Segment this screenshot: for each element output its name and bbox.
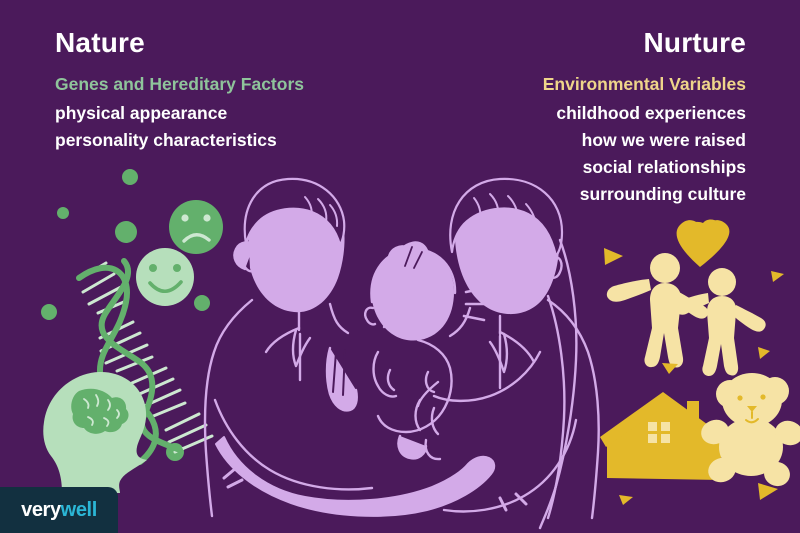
nature-item: personality characteristics [55,127,304,154]
nurture-heading: Nurture [543,28,746,57]
nurture-item: social relationships [543,154,746,181]
nature-subheading: Genes and Hereditary Factors [55,71,304,98]
nurture-text-column: Nurture Environmental Variables childhoo… [543,28,746,208]
nurture-item: surrounding culture [543,181,746,208]
logo-wordmark: verywell [21,499,97,522]
verywell-logo[interactable]: verywell [0,487,118,533]
logo-very-text: very [21,499,61,521]
nature-item: physical appearance [55,100,304,127]
nurture-item: childhood experiences [543,100,746,127]
nature-heading: Nature [55,28,304,57]
logo-well-text: well [61,499,97,521]
nurture-subheading: Environmental Variables [543,71,746,98]
nurture-item: how we were raised [543,127,746,154]
infographic-canvas: Nature Genes and Hereditary Factors phys… [0,0,800,533]
nature-text-column: Nature Genes and Hereditary Factors phys… [55,28,304,154]
